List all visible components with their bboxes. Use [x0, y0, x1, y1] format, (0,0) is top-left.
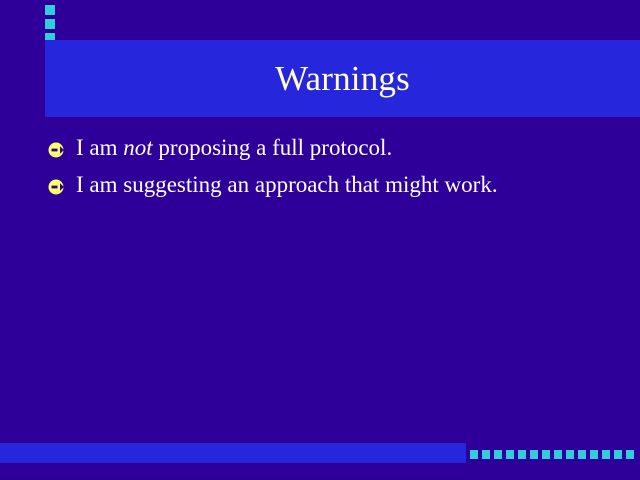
list-item-text: I am not proposing a full protocol. — [76, 133, 392, 163]
corner-square — [45, 5, 55, 15]
footer-decoration-squares — [470, 450, 638, 459]
footer-square — [494, 450, 502, 459]
footer-square — [470, 450, 478, 459]
footer-square — [614, 450, 622, 459]
arrow-right-circle-bullet-icon — [48, 134, 76, 158]
list-item: I am suggesting an approach that might w… — [48, 170, 620, 200]
list-item-text-prefix: I am suggesting an approach that might w… — [76, 172, 498, 197]
footer-square — [506, 450, 514, 459]
footer-square — [578, 450, 586, 459]
footer-square — [530, 450, 538, 459]
corner-square — [45, 19, 55, 29]
footer-square — [602, 450, 610, 459]
list-item-text-suffix: proposing a full protocol. — [153, 135, 393, 160]
bullet-list: I am not proposing a full protocol. I am… — [48, 133, 620, 207]
footer-square — [566, 450, 574, 459]
arrow-right-circle-bullet-icon — [48, 171, 76, 195]
list-item-text-emphasis: not — [123, 135, 152, 160]
footer-square — [626, 450, 634, 459]
footer-square — [518, 450, 526, 459]
list-item-text-prefix: I am — [76, 135, 123, 160]
footer-bar — [0, 443, 466, 463]
footer-square — [542, 450, 550, 459]
list-item-text: I am suggesting an approach that might w… — [76, 170, 498, 200]
list-item: I am not proposing a full protocol. — [48, 133, 620, 163]
footer-square — [482, 450, 490, 459]
page-title: Warnings — [45, 60, 640, 95]
footer-square — [554, 450, 562, 459]
slide: Warnings I am not proposing a full proto… — [0, 0, 640, 480]
footer-square — [590, 450, 598, 459]
title-banner: Warnings — [45, 40, 640, 117]
